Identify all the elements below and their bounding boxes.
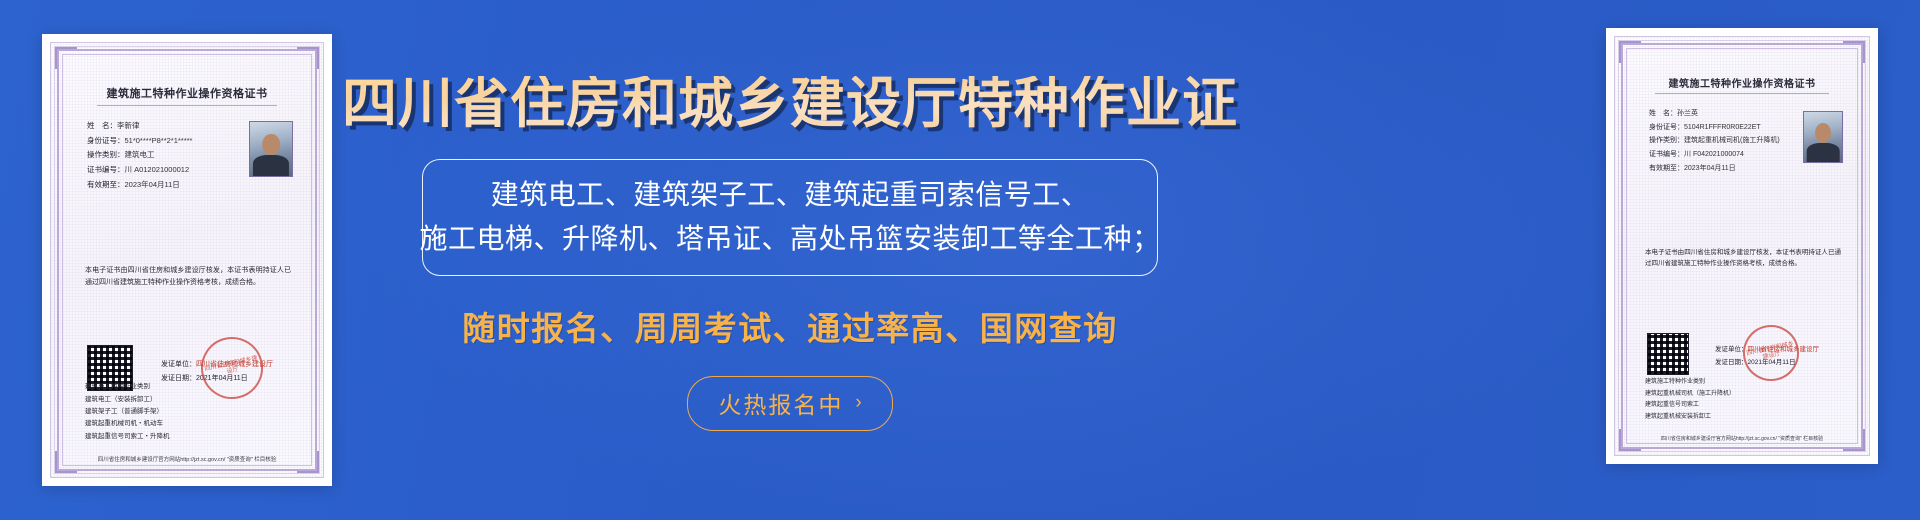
portrait-body-shape bbox=[1807, 143, 1840, 162]
certificate-statement-left: 本电子证书由四川省住房和城乡建设厅核发，本证书表明持证人已通过四川省建筑施工特种… bbox=[85, 265, 291, 290]
field-row: 有效期至：2023年04月11日 bbox=[87, 178, 192, 193]
certificate-title-rule bbox=[1655, 93, 1829, 94]
field-row: 证书编号：川 A012021000012 bbox=[87, 163, 192, 178]
qr-code-icon-right bbox=[1647, 333, 1689, 375]
certificate-title-rule bbox=[97, 105, 277, 106]
tagline-text: 随时报名、周周考试、通过率高、国网查询 bbox=[462, 302, 1118, 350]
certificate-portrait-photo-right bbox=[1803, 111, 1843, 163]
enroll-now-label: 火热报名中 bbox=[718, 386, 843, 420]
certificate-footer-right: 四川省住房和城乡建设厅官方网站http://jzt.sc.gov.cn/ "资质… bbox=[1615, 435, 1869, 442]
corner-ornament-icon bbox=[1619, 41, 1641, 63]
page-title: 四川省住房和城乡建设厅特种作业证 bbox=[342, 76, 1238, 131]
certificate-fields-left: 姓 名：李新律 身份证号：51*0****P8**2*1***** 操作类别：建… bbox=[87, 119, 192, 192]
corner-ornament-icon bbox=[55, 47, 77, 69]
corner-ornament-icon bbox=[1843, 41, 1865, 63]
field-row: 操作类别：建筑电工 bbox=[87, 148, 192, 163]
banner-content: 四川省住房和城乡建设厅特种作业证 建筑电工、建筑架子工、建筑起重司索信号工、 施… bbox=[360, 0, 1220, 520]
certificate-notes-right: 建筑施工特种作业类别 建筑起重机械司机（施工升降机） 建筑起重信号司索工 建筑起… bbox=[1645, 377, 1735, 423]
certificate-inner-right: 建筑施工特种作业操作资格证书 姓 名：孙兰英 身份证号：5104R1FFFR0R… bbox=[1614, 36, 1870, 456]
portrait-body-shape bbox=[253, 155, 289, 176]
field-row: 身份证号：5104R1FFFR0R0E22ET bbox=[1649, 121, 1780, 135]
field-row: 操作类别：建筑起重机械司机(施工升降机) bbox=[1649, 134, 1780, 148]
enroll-now-button[interactable]: 火热报名中 › bbox=[687, 376, 892, 431]
certificate-notes-left: 建筑施工特种作业类别 建筑电工（安装拆卸工） 建筑架子工（普通脚手架） 建筑起重… bbox=[85, 381, 170, 443]
course-list-line: 建筑电工、建筑架子工、建筑起重司索信号工、 bbox=[491, 177, 1090, 212]
field-row: 姓 名：李新律 bbox=[87, 119, 192, 134]
field-row: 有效期至：2023年04月11日 bbox=[1649, 162, 1780, 176]
certificate-footer-left: 四川省住房和城乡建设厅官方网站http://jzt.sc.gov.cn/ "资质… bbox=[51, 455, 323, 463]
field-row: 身份证号：51*0****P8**2*1***** bbox=[87, 134, 192, 149]
certificate-title-left: 建筑施工特种作业操作资格证书 bbox=[51, 85, 323, 101]
certificate-title-right: 建筑施工特种作业操作资格证书 bbox=[1615, 75, 1869, 90]
corner-ornament-icon bbox=[297, 47, 319, 69]
certificate-image-right: 建筑施工特种作业操作资格证书 姓 名：孙兰英 身份证号：5104R1FFFR0R… bbox=[1606, 28, 1878, 464]
certificate-image-left: 建筑施工特种作业操作资格证书 姓 名：李新律 身份证号：51*0****P8**… bbox=[42, 34, 332, 486]
promo-banner: 建筑施工特种作业操作资格证书 姓 名：李新律 身份证号：51*0****P8**… bbox=[0, 0, 1920, 520]
course-list-box: 建筑电工、建筑架子工、建筑起重司索信号工、 施工电梯、升降机、塔吊证、高处吊篮安… bbox=[422, 159, 1158, 276]
portrait-head-shape bbox=[1815, 123, 1831, 143]
certificate-inner-left: 建筑施工特种作业操作资格证书 姓 名：李新律 身份证号：51*0****P8**… bbox=[50, 42, 324, 478]
certificate-fields-right: 姓 名：孙兰英 身份证号：5104R1FFFR0R0E22ET 操作类别：建筑起… bbox=[1649, 107, 1780, 175]
portrait-head-shape bbox=[262, 134, 280, 156]
certificate-statement-right: 本电子证书由四川省住房和城乡建设厅核发，本证书表明持证人已通过四川省建筑施工特种… bbox=[1645, 247, 1841, 270]
certificate-portrait-photo-left bbox=[249, 121, 293, 177]
field-row: 姓 名：孙兰英 bbox=[1649, 107, 1780, 121]
course-list-line: 施工电梯、升降机、塔吊证、高处吊篮安装卸工等全工种； bbox=[420, 221, 1161, 256]
field-row: 证书编号：川 F042021000074 bbox=[1649, 148, 1780, 162]
chevron-right-icon: › bbox=[855, 392, 861, 414]
